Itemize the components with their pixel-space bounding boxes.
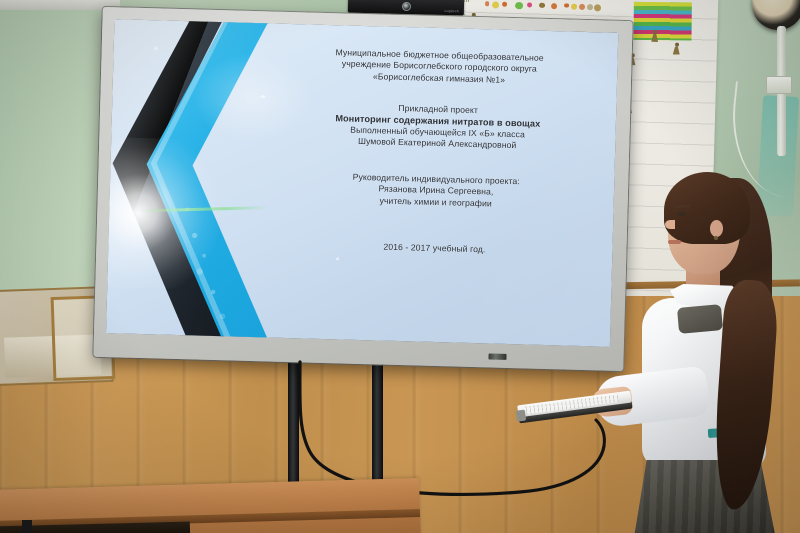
presenter-pinafore-strap xyxy=(677,304,723,334)
presenter-lips xyxy=(668,240,681,244)
camera-lens-icon xyxy=(401,1,410,10)
flat-panel-display[interactable]: Муниципальное бюджетное общеобразователь… xyxy=(93,7,632,371)
poster-element-dot xyxy=(551,3,557,9)
poster-element-dot xyxy=(492,1,499,8)
presenter-eye xyxy=(676,212,687,216)
poster-element-dot xyxy=(527,2,532,7)
display-bezel: Муниципальное бюджетное общеобразователь… xyxy=(93,7,632,371)
poster-element-dot xyxy=(485,1,490,6)
keyboard-corner xyxy=(516,410,526,422)
webcam-brand-label: Logitech xyxy=(444,9,459,13)
poster-element-dot xyxy=(539,3,544,8)
poster-element-dot xyxy=(515,2,523,10)
poster-figure-icon xyxy=(651,30,658,42)
poster-color-swatch xyxy=(633,2,691,41)
poster-element-dot xyxy=(587,4,593,10)
student-presenter xyxy=(590,160,800,533)
presentation-slide[interactable]: Муниципальное бюджетное общеобразователь… xyxy=(106,19,618,347)
classroom-presentation-scene: VIII IX Logitech xyxy=(0,0,800,533)
display-inner-frame: Муниципальное бюджетное общеобразователь… xyxy=(106,19,618,347)
ir-sensor xyxy=(488,353,506,359)
presenter-ear xyxy=(710,220,723,237)
desk-leg xyxy=(22,520,32,533)
poster-figure-icon xyxy=(673,42,680,54)
poster-element-dot xyxy=(571,4,577,10)
presenter-earring xyxy=(714,236,718,240)
slide-text-content: Муниципальное бюджетное общеобразователь… xyxy=(256,23,616,346)
presenter-nose xyxy=(665,220,675,229)
